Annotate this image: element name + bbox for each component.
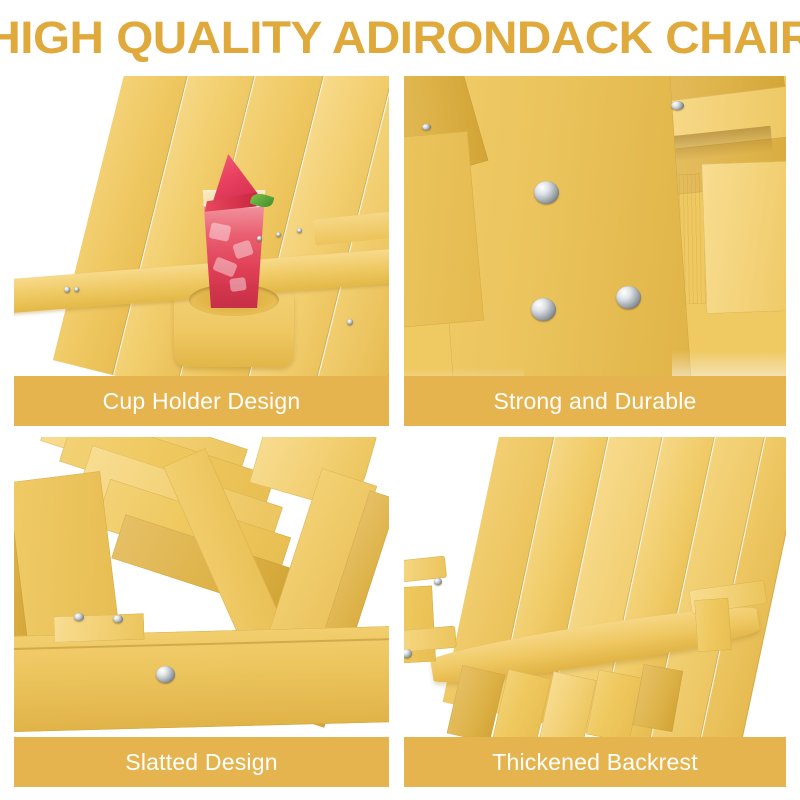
slat-frame-closeup	[14, 437, 389, 787]
photo-cup-holder	[14, 76, 389, 426]
photo-slatted-design	[14, 437, 389, 787]
screw-icon	[74, 287, 79, 292]
screw-icon	[297, 228, 302, 233]
caption-thickened-backrest: Thickened Backrest	[404, 737, 786, 787]
screw-icon	[671, 101, 684, 110]
screw-icon	[422, 124, 431, 130]
infographic-canvas: HIGH QUALITY ADIRONDACK CHAIR	[0, 0, 800, 800]
screw-icon	[156, 666, 175, 683]
panel-thickened-backrest[interactable]: Thickened Backrest	[404, 437, 786, 787]
screw-icon	[113, 615, 123, 623]
panel-cup-holder[interactable]: Cup Holder Design	[14, 76, 389, 426]
screw-icon	[276, 232, 281, 237]
screw-icon	[434, 578, 442, 585]
page-title: HIGH QUALITY ADIRONDACK CHAIR	[0, 9, 800, 67]
panel-slatted-design[interactable]: Slatted Design	[14, 437, 389, 787]
caption-strong-durable: Strong and Durable	[404, 376, 786, 426]
photo-thickened-backrest	[404, 437, 786, 787]
screw-icon	[616, 286, 641, 309]
screw-icon	[347, 319, 353, 325]
photo-strong-durable	[404, 76, 786, 426]
screw-icon	[257, 236, 262, 241]
screw-icon	[64, 286, 70, 292]
caption-slatted-design: Slatted Design	[14, 737, 389, 787]
backrest-closeup	[404, 437, 786, 787]
panel-strong-durable[interactable]: Strong and Durable	[404, 76, 786, 426]
screw-icon	[534, 181, 559, 204]
screw-icon	[531, 298, 556, 321]
board-closeup	[404, 76, 786, 426]
drink-liquid	[200, 206, 268, 308]
caption-cup-holder: Cup Holder Design	[14, 376, 389, 426]
screw-icon	[74, 613, 84, 621]
